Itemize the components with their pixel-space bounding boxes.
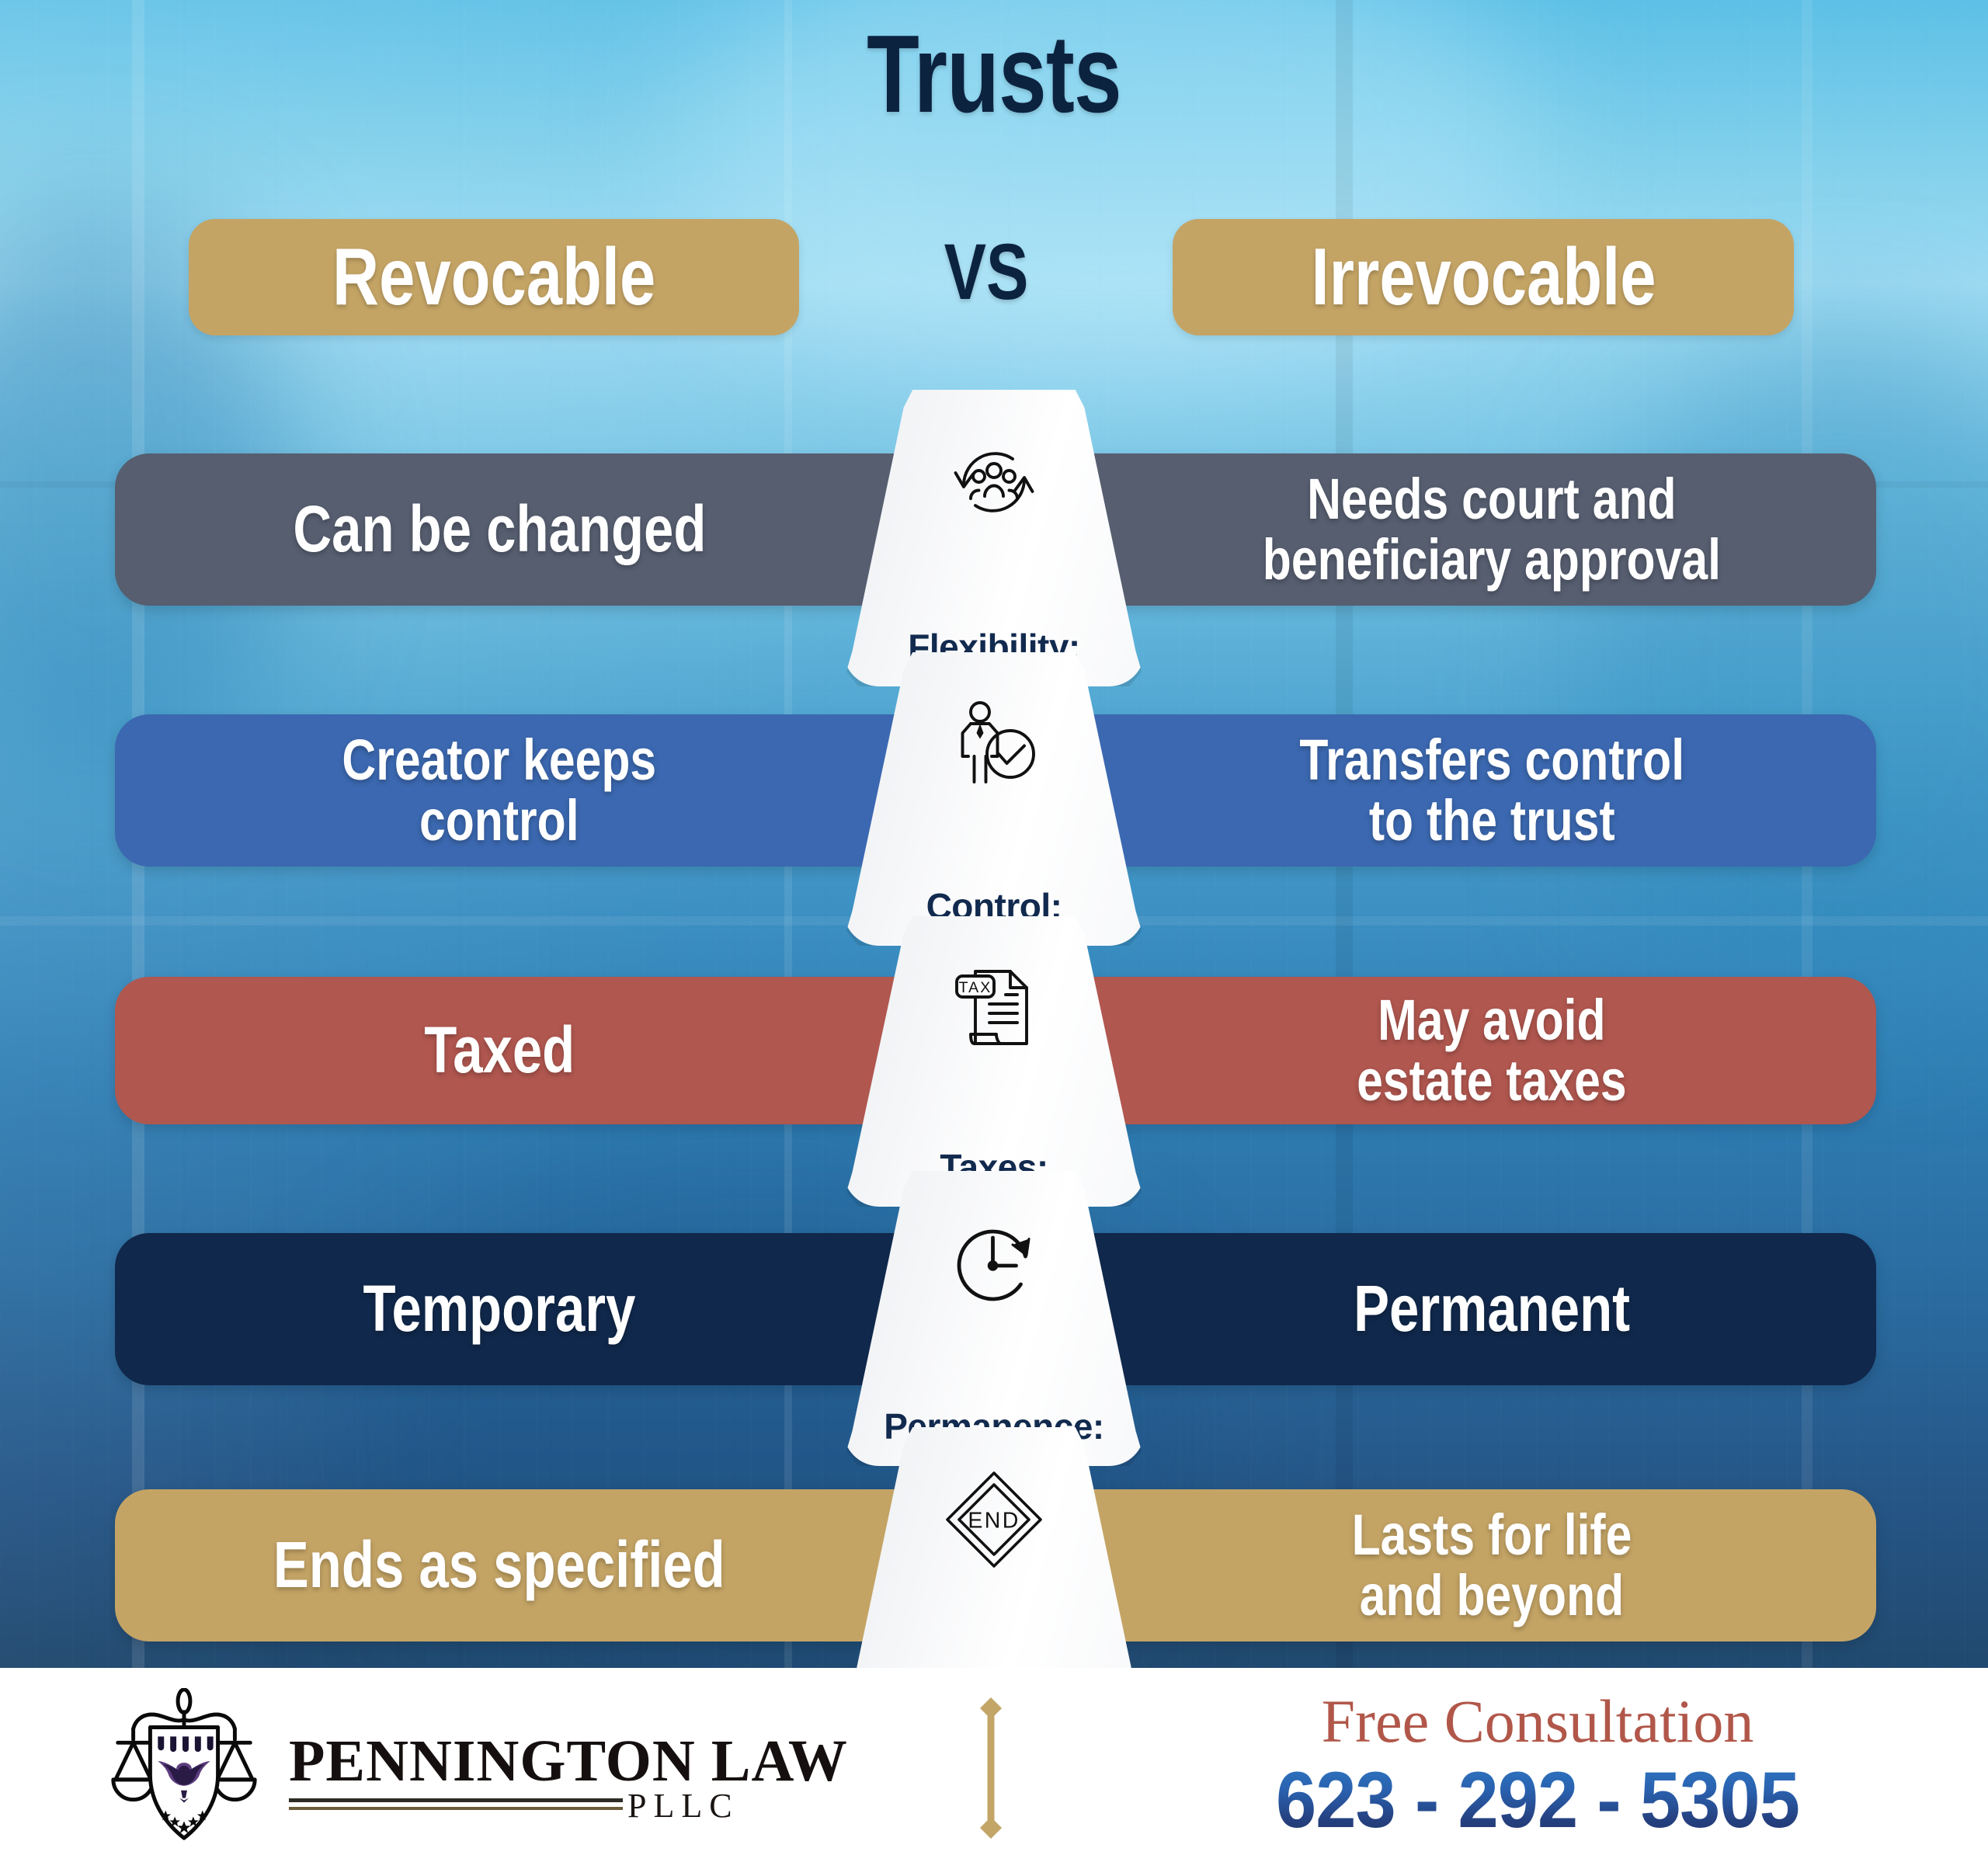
- row-right-bar: Lasts for life and beyond: [1014, 1489, 1876, 1641]
- row-left-text: Ends as specified: [273, 1530, 725, 1600]
- svg-text:TAX: TAX: [959, 979, 992, 996]
- row-category-card: Control:: [843, 652, 1145, 946]
- row-category-card: Permanence:: [843, 1171, 1145, 1466]
- infographic-canvas: Trusts Revocable VS Irrevocable Can be c…: [0, 0, 1988, 1869]
- row-left-bar: Ends as specified: [115, 1489, 977, 1641]
- cta-heading: Free Consultation: [1165, 1690, 1910, 1753]
- end-sign-icon: END: [936, 1461, 1052, 1578]
- row-left-bar: Can be changed: [115, 453, 977, 606]
- svg-text:END: END: [968, 1509, 1020, 1534]
- row-right-text: Needs court and beneficiary approval: [1263, 469, 1721, 591]
- logo-rule: [289, 1807, 623, 1810]
- gold-diamond-divider-icon: [968, 1696, 1014, 1840]
- scales-of-justice-shield-eagle-logo: [99, 1688, 269, 1851]
- row-left-bar: Taxed: [115, 977, 977, 1124]
- phone-number[interactable]: 623 - 292 - 5305: [1194, 1755, 1880, 1846]
- row-right-bar: Permanent: [1014, 1233, 1876, 1385]
- row-left-text: Temporary: [363, 1274, 636, 1343]
- row-right-bar: Needs court and beneficiary approval: [1014, 453, 1876, 606]
- comparison-rows: Can be changed Needs court and beneficia…: [0, 0, 1988, 1669]
- logo-rule: [289, 1798, 623, 1802]
- row-right-text: May avoid estate taxes: [1357, 990, 1626, 1112]
- row-left-bar: Creator keeps control: [115, 714, 977, 867]
- row-right-bar: Transfers control to the trust: [1014, 714, 1876, 867]
- row-category-card: Flexibility:: [843, 390, 1145, 686]
- call-to-action[interactable]: Free Consultation 623 - 292 - 5305: [1165, 1690, 1910, 1846]
- footer-bar: PENNINGTON LAW PLLC Free Consultation 62…: [0, 1668, 1988, 1869]
- tax-document-icon: TAX: [936, 950, 1052, 1067]
- person-check-icon: [936, 686, 1052, 803]
- row-left-bar: Temporary: [115, 1233, 977, 1385]
- row-left-text: Can be changed: [293, 495, 706, 564]
- people-cycle-icon: [936, 424, 1052, 540]
- firm-logo-rules: PLLC: [289, 1797, 848, 1814]
- row-right-text: Lasts for life and beyond: [1352, 1505, 1632, 1627]
- firm-suffix: PLLC: [627, 1789, 739, 1823]
- firm-logo[interactable]: PENNINGTON LAW PLLC: [99, 1688, 848, 1851]
- row-left-text: Creator keeps control: [342, 730, 657, 852]
- row-right-bar: May avoid estate taxes: [1014, 977, 1876, 1124]
- firm-name: PENNINGTON LAW: [289, 1732, 848, 1791]
- row-right-text: Permanent: [1354, 1274, 1630, 1343]
- row-left-text: Taxed: [424, 1016, 575, 1085]
- clock-arrow-icon: [936, 1205, 1052, 1322]
- row-right-text: Transfers control to the trust: [1299, 730, 1684, 852]
- row-category-card: TAX Taxes:: [843, 916, 1145, 1207]
- firm-logo-text: PENNINGTON LAW PLLC: [289, 1725, 848, 1814]
